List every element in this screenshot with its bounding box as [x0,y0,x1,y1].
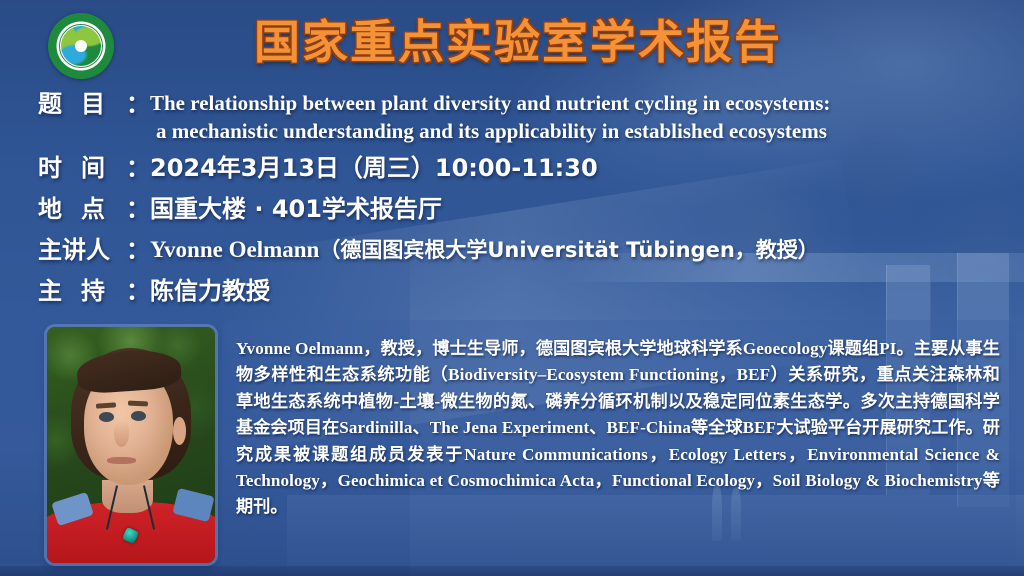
laboratory-seal-icon [48,13,114,79]
biography-panel: Yvonne Oelmann，教授，博士生导师，德国图宾根大学地球科学系Geoe… [222,320,1016,566]
page-title: 国家重点实验室学术报告 [218,14,818,70]
seal-swirl-icon [61,26,101,66]
seal-inner-disc [59,24,103,68]
biography-section: Yvonne Oelmann，教授，博士生导师，德国图宾根大学地球科学系Geoe… [0,320,1024,576]
photo-eyebrow-left [96,402,116,409]
label-topic-colon: ： [126,86,150,122]
row-topic: 题 目 ： The relationship between plant div… [0,86,1024,145]
poster-header: 国家重点实验室学术报告 [0,0,1024,86]
topic-line-1: The relationship between plant diversity… [150,91,830,115]
label-host-char1: 主 [38,273,62,309]
label-host-colon: ： [126,273,150,309]
label-time-char1: 时 [38,150,62,186]
label-place-char2: 点 [81,191,105,227]
label-speaker-text: 主讲人 [38,232,110,268]
value-place: 国重大楼 · 401学术报告厅 [150,191,1006,227]
label-speaker: 主讲人 ： [38,232,150,268]
label-host: 主 持 ： [38,273,150,309]
value-host: 陈信力教授 [150,273,1006,309]
label-place: 地 点 ： [38,191,150,227]
value-topic: The relationship between plant diversity… [150,86,1006,145]
label-place-colon: ： [126,191,150,227]
label-topic-char2: 目 [81,86,105,122]
seal-swirl-center [75,40,88,53]
seminar-poster: 国家重点实验室学术报告 题 目 ： The relationship betwe… [0,0,1024,576]
topic-line-2: a mechanistic understanding and its appl… [150,117,1006,145]
label-topic-char1: 题 [38,86,62,122]
label-time-char2: 间 [81,150,105,186]
label-time: 时 间 ： [38,150,150,186]
row-time: 时 间 ： 2024年3月13日（周三）10:00-11:30 [0,150,1024,186]
row-speaker: 主讲人 ： Yvonne Oelmann（德国图宾根大学Universität … [0,232,1024,268]
photo-eye-left [99,412,114,422]
value-time: 2024年3月13日（周三）10:00-11:30 [150,150,1006,186]
speaker-photo [47,327,215,563]
label-place-char1: 地 [38,191,62,227]
value-speaker: Yvonne Oelmann（德国图宾根大学Universität Tübing… [150,232,1006,268]
photo-eye-right [131,411,146,421]
label-time-colon: ： [126,150,150,186]
label-host-char2: 持 [81,273,105,309]
biography-text: Yvonne Oelmann，教授，博士生导师，德国图宾根大学地球科学系Geoe… [236,336,1000,521]
info-list: 题 目 ： The relationship between plant div… [0,86,1024,309]
label-speaker-colon: ： [126,232,150,268]
row-place: 地 点 ： 国重大楼 · 401学术报告厅 [0,191,1024,227]
label-topic: 题 目 ： [38,86,150,122]
speaker-name: Yvonne Oelmann [150,237,319,262]
speaker-affiliation: （德国图宾根大学Universität Tübingen，教授） [319,238,818,262]
row-host: 主 持 ： 陈信力教授 [0,273,1024,309]
photo-mouth [107,457,136,464]
